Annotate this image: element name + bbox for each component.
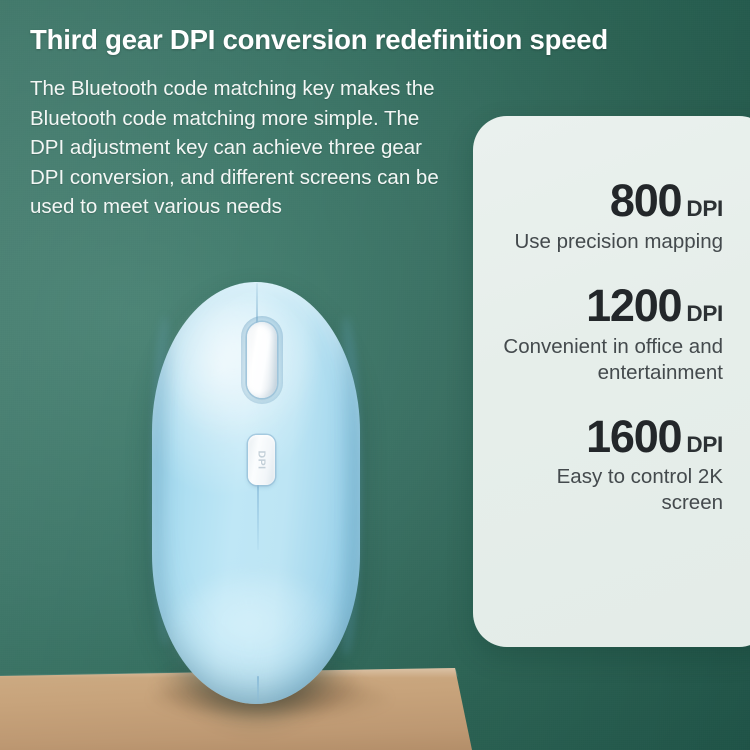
- spec-item-800: 800 DPI Use precision mapping: [491, 178, 723, 255]
- spec-list: 800 DPI Use precision mapping 1200 DPI C…: [473, 116, 723, 516]
- spec-description: Use precision mapping: [491, 229, 723, 255]
- mouse-bottom-highlight: [170, 576, 342, 694]
- spec-description: Convenient in office and entertainment: [491, 334, 723, 386]
- product-banner: Third gear DPI conversion redefinition s…: [0, 0, 750, 750]
- spec-card: 800 DPI Use precision mapping 1200 DPI C…: [473, 116, 750, 647]
- spec-value-row: 1200 DPI: [491, 283, 723, 330]
- mouse-seam-lower: [257, 476, 259, 550]
- dpi-button[interactable]: DPI: [248, 435, 275, 485]
- spec-number: 1600: [586, 414, 681, 461]
- scroll-wheel[interactable]: [247, 322, 277, 398]
- spec-unit: DPI: [686, 301, 723, 327]
- page-title: Third gear DPI conversion redefinition s…: [30, 24, 730, 56]
- dpi-button-label: DPI: [255, 450, 267, 469]
- spec-description: Easy to control 2K screen: [491, 464, 723, 516]
- mouse-right-rim-shading: [332, 316, 360, 656]
- spec-item-1600: 1600 DPI Easy to control 2K screen: [491, 414, 723, 517]
- description-paragraph: The Bluetooth code matching key makes th…: [30, 74, 450, 222]
- mouse-seam-tail: [257, 676, 259, 702]
- spec-number: 800: [610, 178, 681, 225]
- spec-number: 1200: [586, 283, 681, 330]
- spec-value-row: 800 DPI: [491, 178, 723, 225]
- spec-unit: DPI: [686, 196, 723, 222]
- product-image-mouse: DPI: [148, 276, 364, 716]
- spec-value-row: 1600 DPI: [491, 414, 723, 461]
- spec-unit: DPI: [686, 432, 723, 458]
- spec-item-1200: 1200 DPI Convenient in office and entert…: [491, 283, 723, 386]
